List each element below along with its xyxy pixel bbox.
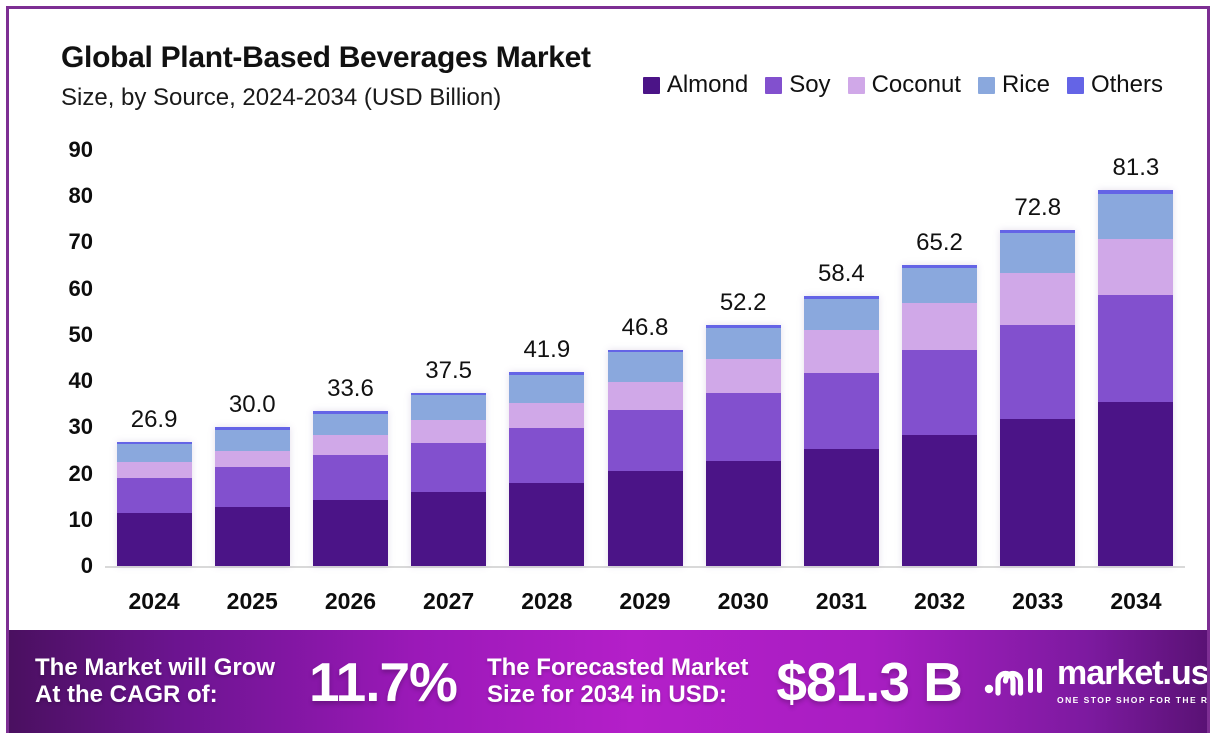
bar-2028[interactable]	[509, 372, 584, 566]
bar-segment-rice	[804, 299, 879, 330]
bar-2025[interactable]	[215, 427, 290, 566]
bar-segment-rice	[313, 414, 388, 435]
x-axis-label-2027: 2027	[423, 588, 474, 615]
bar-2027[interactable]	[411, 393, 486, 566]
logo-wordmark: market.us	[1057, 654, 1207, 692]
forecast-label-line1: The Forecasted Market	[487, 655, 748, 682]
bar-2026[interactable]	[313, 411, 388, 566]
bar-2033[interactable]	[1000, 230, 1075, 566]
bar-segment-rice	[411, 395, 486, 419]
bar-segment-rice	[706, 328, 781, 359]
bar-total-label: 65.2	[916, 229, 963, 257]
bar-segment-soy	[608, 410, 683, 471]
bar-segment-coconut	[411, 420, 486, 443]
bar-segment-soy	[313, 455, 388, 500]
bar-segment-coconut	[215, 451, 290, 467]
bar-segment-soy	[706, 393, 781, 461]
x-axis-label-2031: 2031	[816, 588, 867, 615]
bar-segment-soy	[902, 350, 977, 436]
bar-segment-coconut	[1000, 273, 1075, 326]
bar-segment-soy	[215, 467, 290, 507]
bar-segment-coconut	[313, 435, 388, 455]
y-axis-tick: 90	[69, 137, 93, 163]
bar-total-label: 46.8	[622, 314, 669, 342]
x-axis-label-2030: 2030	[718, 588, 769, 615]
x-axis-label-2028: 2028	[521, 588, 572, 615]
bar-total-label: 81.3	[1113, 154, 1160, 182]
y-axis-tick: 60	[69, 276, 93, 302]
bar-segment-rice	[1098, 194, 1173, 238]
y-axis-tick: 70	[69, 229, 93, 255]
bar-segment-almond	[902, 435, 977, 566]
bar-2032[interactable]	[902, 265, 977, 566]
y-axis-tick: 20	[69, 461, 93, 487]
cagr-label-line2: At the CAGR of:	[35, 682, 275, 709]
bar-segment-almond	[411, 492, 486, 566]
bar-segment-soy	[509, 428, 584, 483]
bar-segment-almond	[804, 449, 879, 566]
bar-segment-coconut	[117, 462, 192, 477]
bar-segment-almond	[1098, 402, 1173, 566]
bar-2024[interactable]	[117, 442, 192, 566]
forecast-value: $81.3 B	[776, 650, 962, 714]
y-axis-tick: 30	[69, 414, 93, 440]
x-axis-label-2024: 2024	[128, 588, 179, 615]
bar-segment-soy	[1000, 325, 1075, 419]
x-axis-label-2032: 2032	[914, 588, 965, 615]
bar-total-label: 37.5	[425, 357, 472, 385]
y-axis-tick: 50	[69, 322, 93, 348]
chart-infographic: Global Plant-Based Beverages Market Size…	[0, 0, 1216, 739]
cagr-label: The Market will Grow At the CAGR of:	[35, 655, 275, 709]
bar-segment-soy	[1098, 295, 1173, 402]
x-axis-label-2026: 2026	[325, 588, 376, 615]
chart-frame: Global Plant-Based Beverages Market Size…	[6, 6, 1210, 733]
forecast-label: The Forecasted Market Size for 2034 in U…	[487, 655, 748, 709]
cagr-label-line1: The Market will Grow	[35, 655, 275, 682]
bars-container: 26.9202430.0202533.6202637.5202741.92028…	[105, 9, 1185, 629]
x-axis-label-2034: 2034	[1110, 588, 1161, 615]
bar-segment-soy	[804, 373, 879, 449]
bar-2030[interactable]	[706, 325, 781, 566]
bar-segment-soy	[411, 443, 486, 492]
x-axis-label-2029: 2029	[619, 588, 670, 615]
x-axis-label-2033: 2033	[1012, 588, 1063, 615]
x-axis-label-2025: 2025	[227, 588, 278, 615]
y-axis-tick: 10	[69, 507, 93, 533]
market-us-logo[interactable]: market.us ONE STOP SHOP FOR THE REPORTS	[984, 656, 1207, 708]
y-axis: 0102030405060708090	[43, 9, 93, 629]
logo-text-block: market.us ONE STOP SHOP FOR THE REPORTS	[1057, 656, 1207, 708]
plot-area: 0102030405060708090 26.9202430.0202533.6…	[9, 9, 1207, 629]
y-axis-tick: 0	[81, 553, 93, 579]
bar-segment-rice	[117, 444, 192, 462]
bar-segment-almond	[215, 507, 290, 566]
bar-segment-almond	[1000, 419, 1075, 566]
bar-segment-coconut	[902, 303, 977, 350]
bar-segment-coconut	[608, 382, 683, 410]
bar-segment-almond	[313, 500, 388, 566]
bar-2029[interactable]	[608, 350, 683, 566]
market-us-mark-icon	[984, 662, 1048, 701]
bar-segment-almond	[706, 461, 781, 566]
y-axis-tick: 80	[69, 183, 93, 209]
cagr-value: 11.7%	[309, 650, 457, 714]
bar-segment-rice	[608, 352, 683, 382]
bar-total-label: 41.9	[523, 336, 570, 364]
bar-segment-almond	[608, 471, 683, 566]
bar-segment-coconut	[1098, 239, 1173, 295]
bar-total-label: 26.9	[131, 406, 178, 434]
bar-segment-almond	[509, 483, 584, 566]
bar-2034[interactable]	[1098, 190, 1173, 566]
bar-total-label: 33.6	[327, 375, 374, 403]
bar-segment-coconut	[509, 403, 584, 428]
bar-segment-soy	[117, 478, 192, 513]
bar-segment-rice	[509, 375, 584, 403]
bar-total-label: 72.8	[1014, 194, 1061, 222]
bar-2031[interactable]	[804, 296, 879, 566]
bar-segment-almond	[117, 513, 192, 566]
bar-segment-coconut	[804, 330, 879, 373]
summary-banner: The Market will Grow At the CAGR of: 11.…	[9, 630, 1207, 733]
y-axis-tick: 40	[69, 368, 93, 394]
bar-segment-coconut	[706, 359, 781, 393]
forecast-label-line2: Size for 2034 in USD:	[487, 682, 748, 709]
bar-total-label: 52.2	[720, 289, 767, 317]
bar-segment-rice	[1000, 233, 1075, 273]
logo-tagline: ONE STOP SHOP FOR THE REPORTS	[1057, 695, 1207, 705]
bar-total-label: 58.4	[818, 260, 865, 288]
bar-segment-rice	[215, 430, 290, 451]
bar-total-label: 30.0	[229, 391, 276, 419]
bar-segment-rice	[902, 268, 977, 303]
